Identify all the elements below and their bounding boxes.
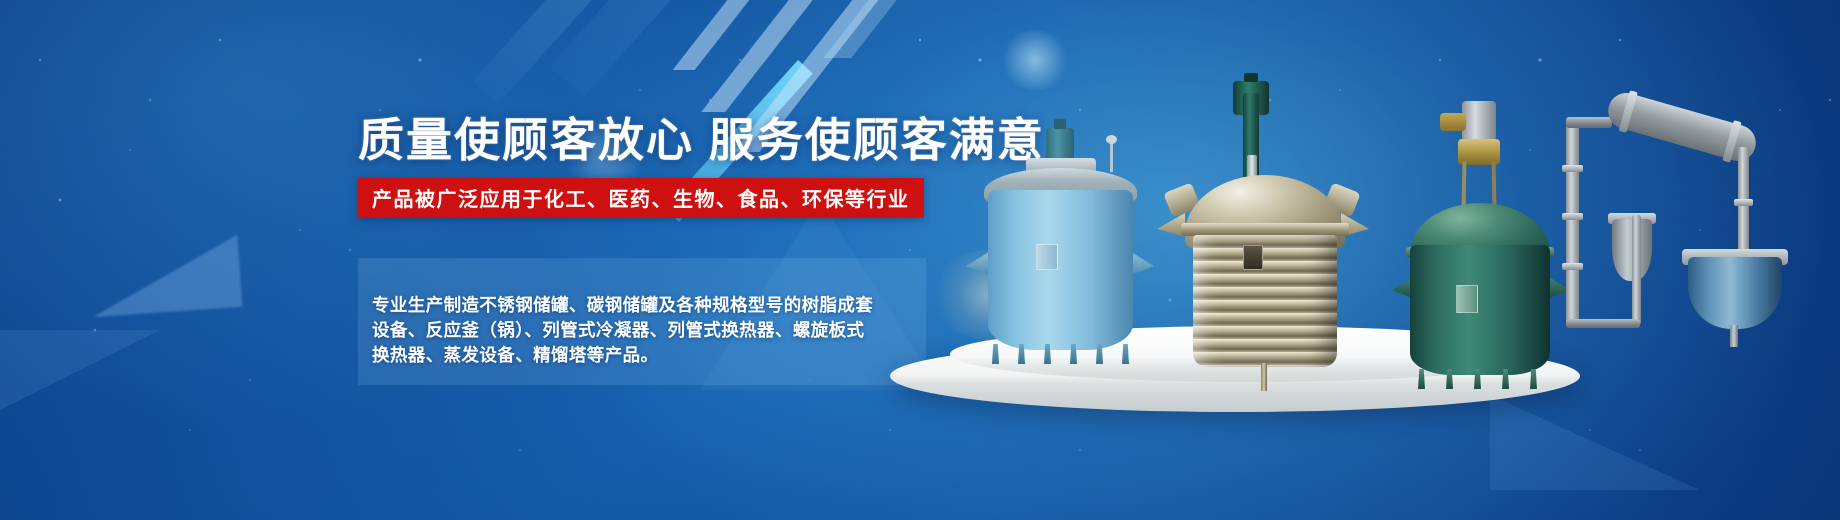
description-line-3: 换热器、蒸发设备、精馏塔等产品。 xyxy=(372,343,917,368)
vessel3-legs xyxy=(1418,369,1542,391)
condensate-downpipe xyxy=(1738,147,1749,265)
vessel3-shaft-cage xyxy=(1462,162,1497,208)
vessel2-bottom-outlet xyxy=(1261,363,1267,391)
stainless-steel-coiled-reactor xyxy=(1165,95,1360,370)
vessel1-sight-glass xyxy=(1036,244,1058,270)
pipe-flange-1 xyxy=(1562,165,1583,172)
description-line-2: 设备、反应釜（锅）、列管式冷凝器、列管式换热器、螺旋板式 xyxy=(372,318,917,343)
banner-description: 专业生产制造不锈钢储罐、碳钢储罐及各种规格型号的树脂成套 设备、反应釜（锅）、列… xyxy=(372,293,917,368)
promotional-banner: 质量使顾客放心 服务使顾客满意 产品被广泛应用于化工、医药、生物、食品、环保等行… xyxy=(0,0,1840,520)
product-showcase xyxy=(930,40,1810,470)
vessel3-motor-bracket xyxy=(1440,113,1466,131)
description-line-1: 专业生产制造不锈钢储罐、碳钢储罐及各种规格型号的树脂成套 xyxy=(372,293,917,318)
banner-tagline-badge: 产品被广泛应用于化工、医药、生物、食品、环保等行业 xyxy=(358,178,924,218)
vessel2-coil-jacket xyxy=(1193,235,1337,367)
vessel1-gauge xyxy=(1110,142,1113,172)
vessel1-legs xyxy=(992,344,1132,366)
pipe-flange-3 xyxy=(1562,263,1583,270)
green-resin-reactor-with-condenser xyxy=(1370,95,1790,375)
vessel3-drive-motor xyxy=(1462,101,1496,141)
separator-downpipe xyxy=(1632,215,1641,325)
vapor-riser-pipe xyxy=(1566,121,1579,327)
vessel1-shell xyxy=(988,190,1133,350)
receiver-tank xyxy=(1688,257,1782,329)
banner-text-column: 质量使顾客放心 服务使顾客满意 产品被广泛应用于化工、医药、生物、食品、环保等行… xyxy=(358,0,978,520)
bottom-return-line xyxy=(1566,319,1640,328)
pipe-flange-4 xyxy=(1734,199,1753,206)
vessel2-nameplate xyxy=(1243,245,1263,270)
light-blue-reactor-vessel xyxy=(970,132,1150,362)
riser-elbow xyxy=(1566,117,1612,128)
vessel3-shell xyxy=(1410,245,1550,375)
receiver-outlet xyxy=(1730,325,1738,347)
tube-condenser xyxy=(1604,89,1760,166)
vessel3-sight-glass xyxy=(1456,285,1478,313)
pipe-flange-2 xyxy=(1562,213,1583,220)
